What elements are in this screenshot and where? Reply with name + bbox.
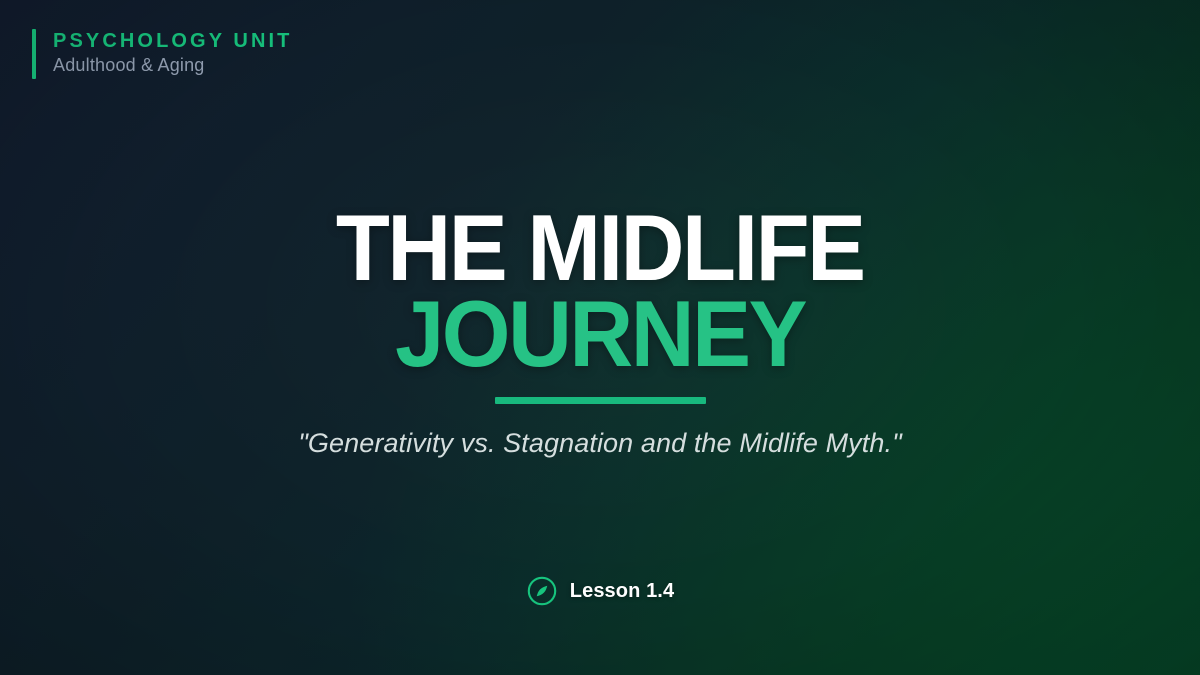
page-title-line-2: JOURNEY	[395, 291, 805, 377]
title-divider	[495, 397, 706, 404]
page-subtitle: "Generativity vs. Stagnation and the Mid…	[298, 428, 902, 459]
lesson-badge: Lesson 1.4	[0, 575, 1200, 607]
header-accent-bar	[32, 29, 36, 79]
presentation-slide: PSYCHOLOGY UNIT Adulthood & Aging THE MI…	[0, 0, 1200, 675]
unit-title: PSYCHOLOGY UNIT	[53, 31, 293, 52]
unit-header-text: PSYCHOLOGY UNIT Adulthood & Aging	[53, 29, 293, 79]
lesson-label: Lesson 1.4	[570, 580, 674, 603]
unit-subtitle: Adulthood & Aging	[53, 55, 293, 76]
compass-leaf-icon	[526, 575, 558, 607]
page-title-line-1: THE MIDLIFE	[336, 205, 864, 291]
title-block: THE MIDLIFE JOURNEY "Generativity vs. St…	[0, 205, 1200, 459]
unit-header: PSYCHOLOGY UNIT Adulthood & Aging	[32, 29, 293, 79]
